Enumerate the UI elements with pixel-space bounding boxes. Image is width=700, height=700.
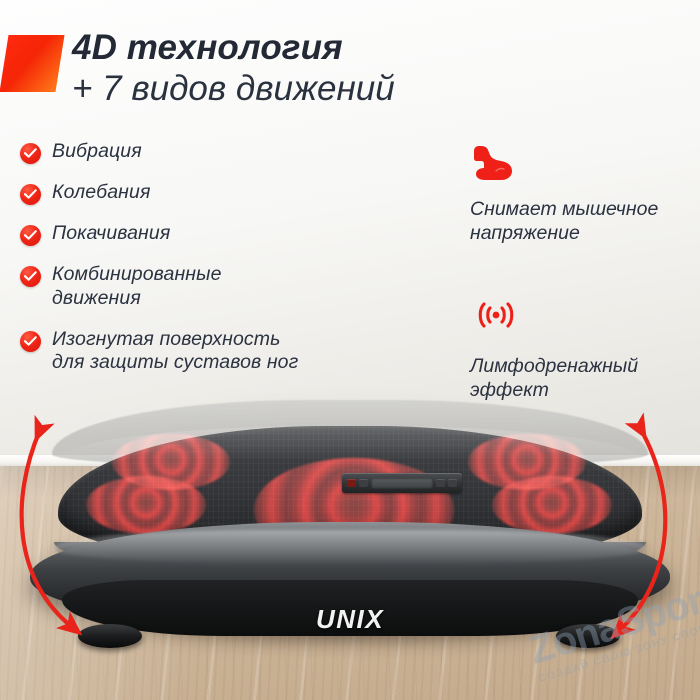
title-line-1: 4D технология [72,28,672,67]
list-item-label: Колебания [52,181,150,205]
control-panel[interactable] [342,473,462,493]
list-item-label: Комбинированные движения [52,263,282,311]
feature-list: Вибрация Колебания Покачивания Комбиниро… [20,140,350,392]
check-circle-icon [20,143,41,164]
vibration-zone-bottom-left [86,476,206,534]
list-item-label: Изогнутая поверхность для защиты суставо… [52,328,314,376]
benefit-lymphatic-drainage: Лимфодренажный эффект [470,300,685,402]
list-item-label: Покачивания [52,222,170,246]
product-body-gloss [52,530,648,564]
product-foot-left [78,624,142,648]
flexed-biceps-icon [470,143,685,183]
list-item: Комбинированные движения [20,263,350,311]
title-line-2: + 7 видов движений [72,68,672,109]
list-item: Покачивания [20,222,350,246]
plus-button[interactable] [448,479,457,487]
vibration-zone-bottom-right [492,476,612,534]
accent-logo-mark [0,35,65,92]
vibration-waves-icon [470,300,685,340]
check-circle-icon [20,184,41,205]
list-item: Изогнутая поверхность для защиты суставо… [20,328,350,376]
minus-button[interactable] [436,479,445,487]
mode-button[interactable] [359,479,368,487]
check-circle-icon [20,266,41,287]
display-screen [371,478,433,489]
list-item: Колебания [20,181,350,205]
check-circle-icon [20,331,41,352]
power-button[interactable] [347,479,356,487]
benefit-muscle-relief: Снимает мышечное напряжение [470,143,685,245]
check-circle-icon [20,225,41,246]
list-item: Вибрация [20,140,350,164]
page-title: 4D технология + 7 видов движений [72,28,672,109]
list-item-label: Вибрация [52,140,142,164]
promo-banner: 4D технология + 7 видов движений Вибраци… [0,0,700,700]
benefit-label: Снимает мышечное напряжение [470,197,685,245]
